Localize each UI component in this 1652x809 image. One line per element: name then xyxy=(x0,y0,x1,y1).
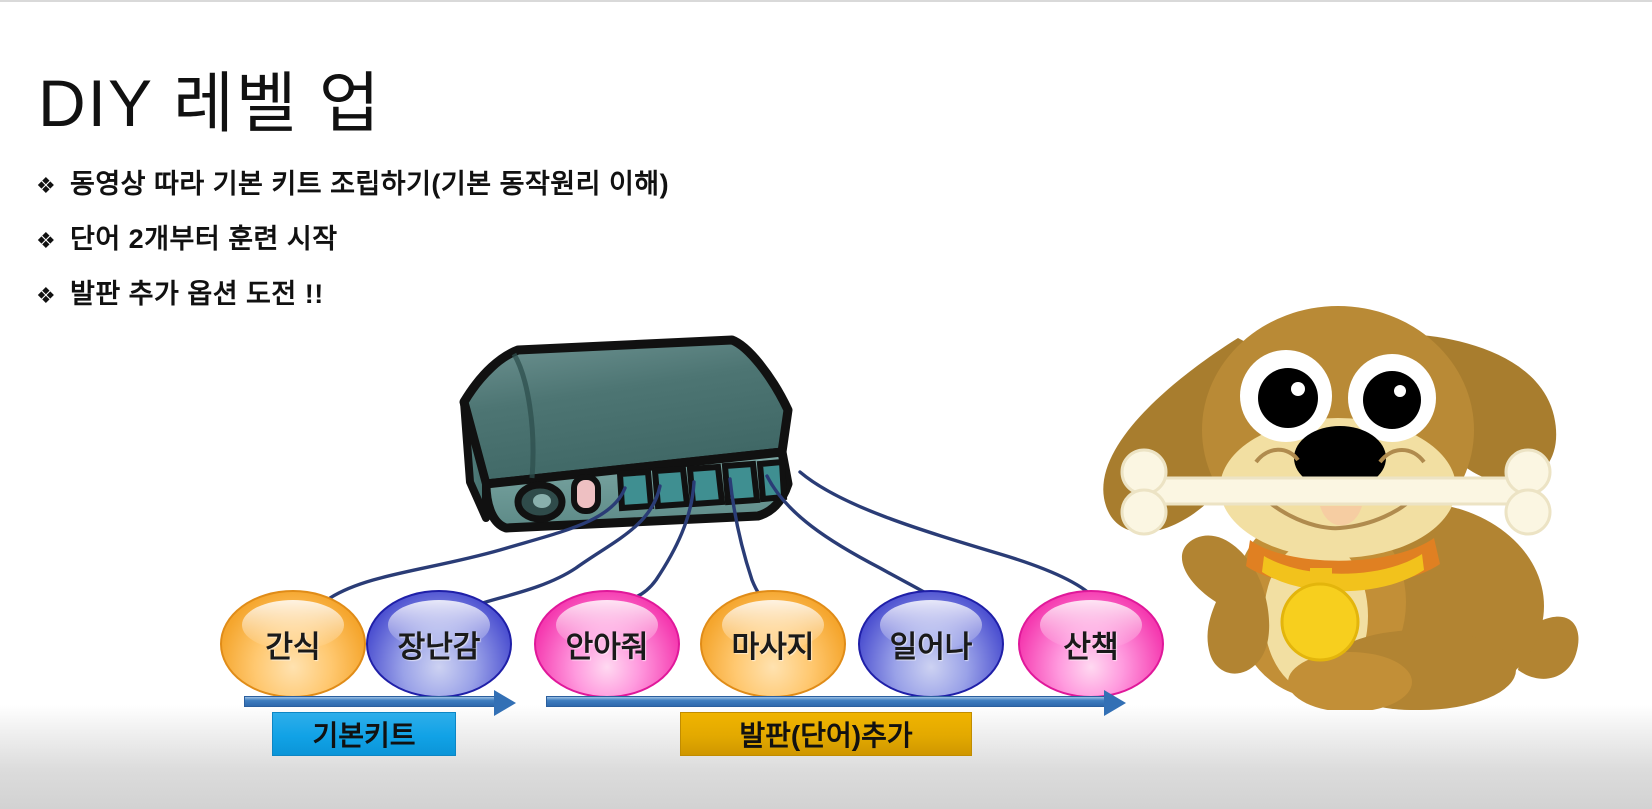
word-button-label: 안아줘 xyxy=(566,622,649,666)
caption-word-addon-label: 발판(단어)추가 xyxy=(739,714,912,754)
recorder-device-illustration xyxy=(452,332,812,537)
word-button-2[interactable]: 장난감 xyxy=(366,590,512,698)
bullet-text: 발판 추가 옵션 도전 !! xyxy=(70,272,324,311)
word-button-label: 일어나 xyxy=(890,622,973,666)
list-item: ❖ 단어 2개부터 훈련 시작 xyxy=(36,217,936,256)
word-button-label: 마사지 xyxy=(732,622,815,666)
arrow-word-addon-bar xyxy=(546,696,1106,707)
caption-word-addon: 발판(단어)추가 xyxy=(680,712,972,756)
word-button-5[interactable]: 일어나 xyxy=(858,590,1004,698)
bullet-text: 동영상 따라 기본 키트 조립하기(기본 동작원리 이해) xyxy=(70,162,669,201)
word-button-3[interactable]: 안아줘 xyxy=(534,590,680,698)
bullet-text: 단어 2개부터 훈련 시작 xyxy=(70,217,338,256)
slide-canvas: DIY 레벨 업 ❖ 동영상 따라 기본 키트 조립하기(기본 동작원리 이해)… xyxy=(0,0,1652,809)
arrow-word-addon-head xyxy=(1104,690,1126,716)
bullet-list: ❖ 동영상 따라 기본 키트 조립하기(기본 동작원리 이해) ❖ 단어 2개부… xyxy=(36,162,936,327)
page-title: DIY 레벨 업 xyxy=(38,50,382,146)
list-item: ❖ 동영상 따라 기본 키트 조립하기(기본 동작원리 이해) xyxy=(36,162,936,201)
diamond-bullet-icon: ❖ xyxy=(36,228,70,254)
word-button-4[interactable]: 마사지 xyxy=(700,590,846,698)
word-button-label: 장난감 xyxy=(398,622,481,666)
word-button-label: 간식 xyxy=(265,622,320,666)
word-button-label: 산책 xyxy=(1063,622,1118,666)
caption-basic-kit: 기본키트 xyxy=(272,712,456,756)
diamond-bullet-icon: ❖ xyxy=(36,173,70,199)
word-button-1[interactable]: 간식 xyxy=(220,590,366,698)
caption-basic-kit-label: 기본키트 xyxy=(312,714,415,754)
diamond-bullet-icon: ❖ xyxy=(36,283,70,309)
arrow-basic-kit-head xyxy=(494,690,516,716)
arrow-basic-kit-bar xyxy=(244,696,496,707)
list-item: ❖ 발판 추가 옵션 도전 !! xyxy=(36,272,936,311)
